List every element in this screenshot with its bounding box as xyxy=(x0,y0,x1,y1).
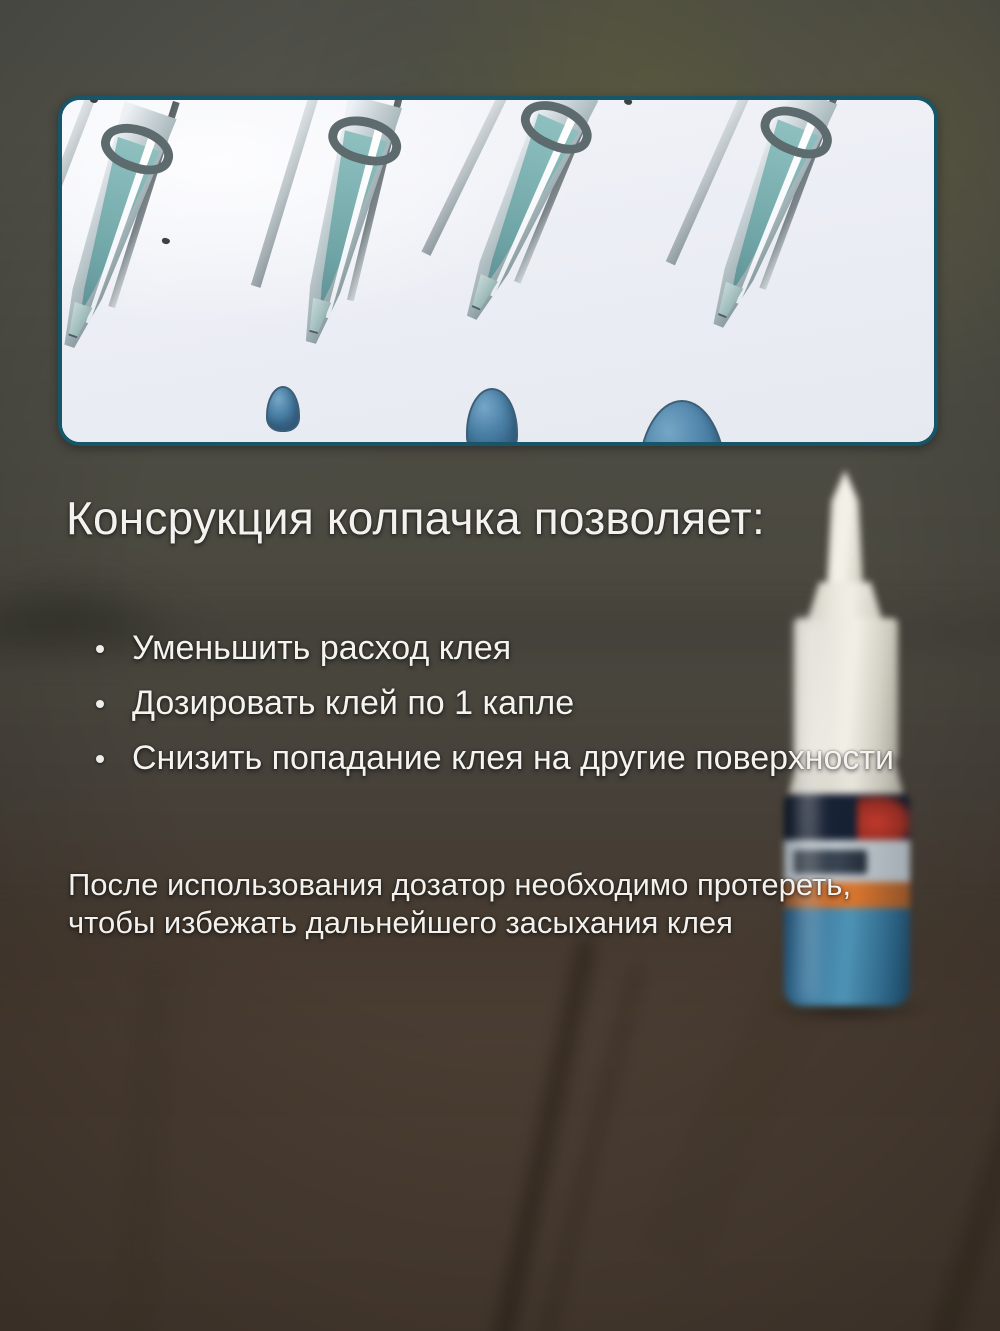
list-item: Дозировать клей по 1 капле xyxy=(90,683,920,724)
list-item: Уменьшить расход клея xyxy=(90,628,920,669)
bottle-neck xyxy=(807,582,883,622)
ink-speck xyxy=(349,96,358,98)
bullet-icon xyxy=(96,755,104,763)
bottle-nozzle-tip xyxy=(821,470,869,590)
usage-note: После использования дозатор необходимо п… xyxy=(68,866,918,942)
bullet-icon xyxy=(96,700,104,708)
label-accent-red xyxy=(857,796,910,844)
list-item: Снизить попадание клея на другие поверхн… xyxy=(90,738,920,779)
benefits-list: Уменьшить расход клея Дозировать клей по… xyxy=(90,628,920,793)
page-title: Консрукция колпачка позволяет: xyxy=(66,492,766,544)
bullet-icon xyxy=(96,645,104,653)
list-item-label: Уменьшить расход клея xyxy=(132,629,511,667)
list-item-label: Снизить попадание клея на другие поверхн… xyxy=(132,739,894,777)
illustration-card xyxy=(58,96,938,446)
list-item-label: Дозировать клей по 1 капле xyxy=(132,684,574,722)
